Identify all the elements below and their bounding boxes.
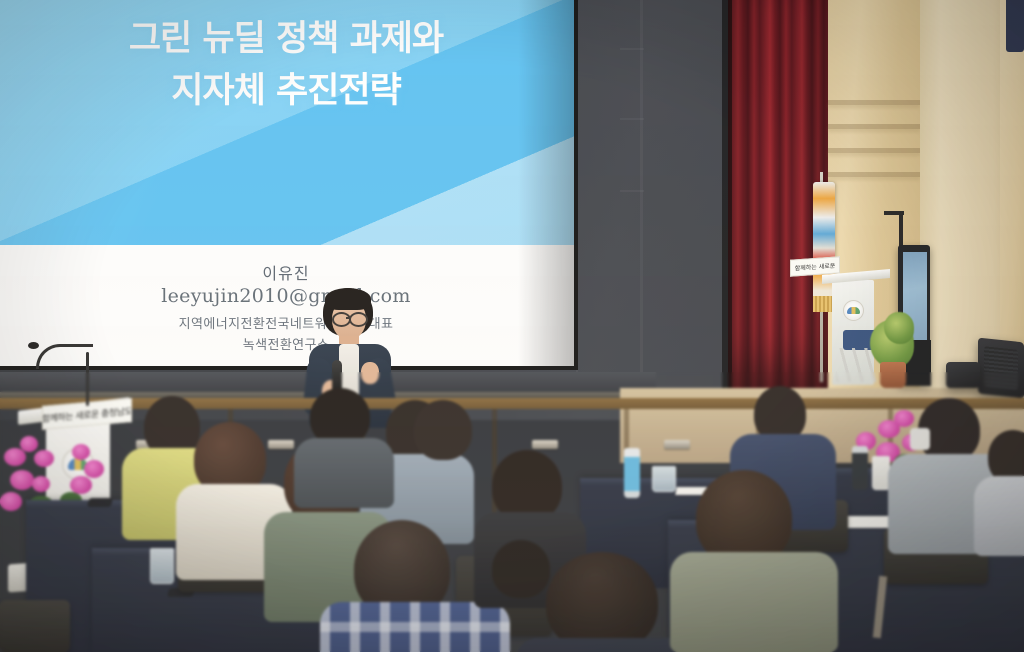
lecture-photo: 그린 뉴딜 정책 과제와 지자체 추진전략 이유진 leeyujin2010@g… [0,0,1024,652]
wood-groove [828,148,920,153]
wall-panel-line [620,118,644,120]
presenter-hair-fringe [325,288,371,310]
audience-head [492,540,550,598]
audience-torso [974,476,1024,556]
panel-latch [532,440,558,449]
wall-fixture [1006,0,1024,52]
slide-title-line1: 그린 뉴딜 정책 과제와 [129,19,443,59]
gooseneck-mic-head [28,342,39,349]
audience-head [414,400,472,460]
right-podium-sign: 함께하는 새로운 [790,256,840,276]
panel-latch [664,440,690,449]
chair-back [0,600,70,652]
wood-groove [828,124,920,129]
wood-groove [828,172,920,177]
insulated-tumbler [624,448,640,498]
plant-pot [880,362,906,388]
insulated-tumbler [852,446,868,490]
monitor-arm [899,212,903,248]
wood-groove [828,100,920,105]
presenter-glasses-bridge [346,317,351,319]
wall-panel-line [620,48,644,50]
water-glass [652,466,676,492]
audience-torso [320,602,510,652]
presenter-right-hand [361,362,379,384]
presenter-glasses [349,312,368,327]
slide-title: 그린 뉴딜 정책 과제와 지자체 추진전략 [0,14,574,118]
left-podium-sign-text: 함께하는 새로운 충청남도 [42,404,132,425]
curtain-edge [722,0,732,400]
face-mask [910,428,930,450]
pa-speaker-small [946,362,980,388]
presenter-name: 이유진 [0,260,574,284]
water-glass [150,548,174,584]
smartphone [87,498,113,507]
right-podium-emblem [843,300,864,321]
pa-speaker-grille [984,346,1018,390]
monitor-arm-top [884,211,904,215]
wall-panel-line [620,190,644,192]
right-podium-sign-text: 함께하는 새로운 [795,261,836,273]
plant-foliage [884,312,914,344]
audience-head [546,552,658,652]
panel-latch [268,440,294,449]
audience-torso [294,438,394,508]
slide-title-line2: 지자체 추진전략 [0,66,574,118]
wall-panel-line [640,0,643,400]
audience-torso [670,552,838,652]
